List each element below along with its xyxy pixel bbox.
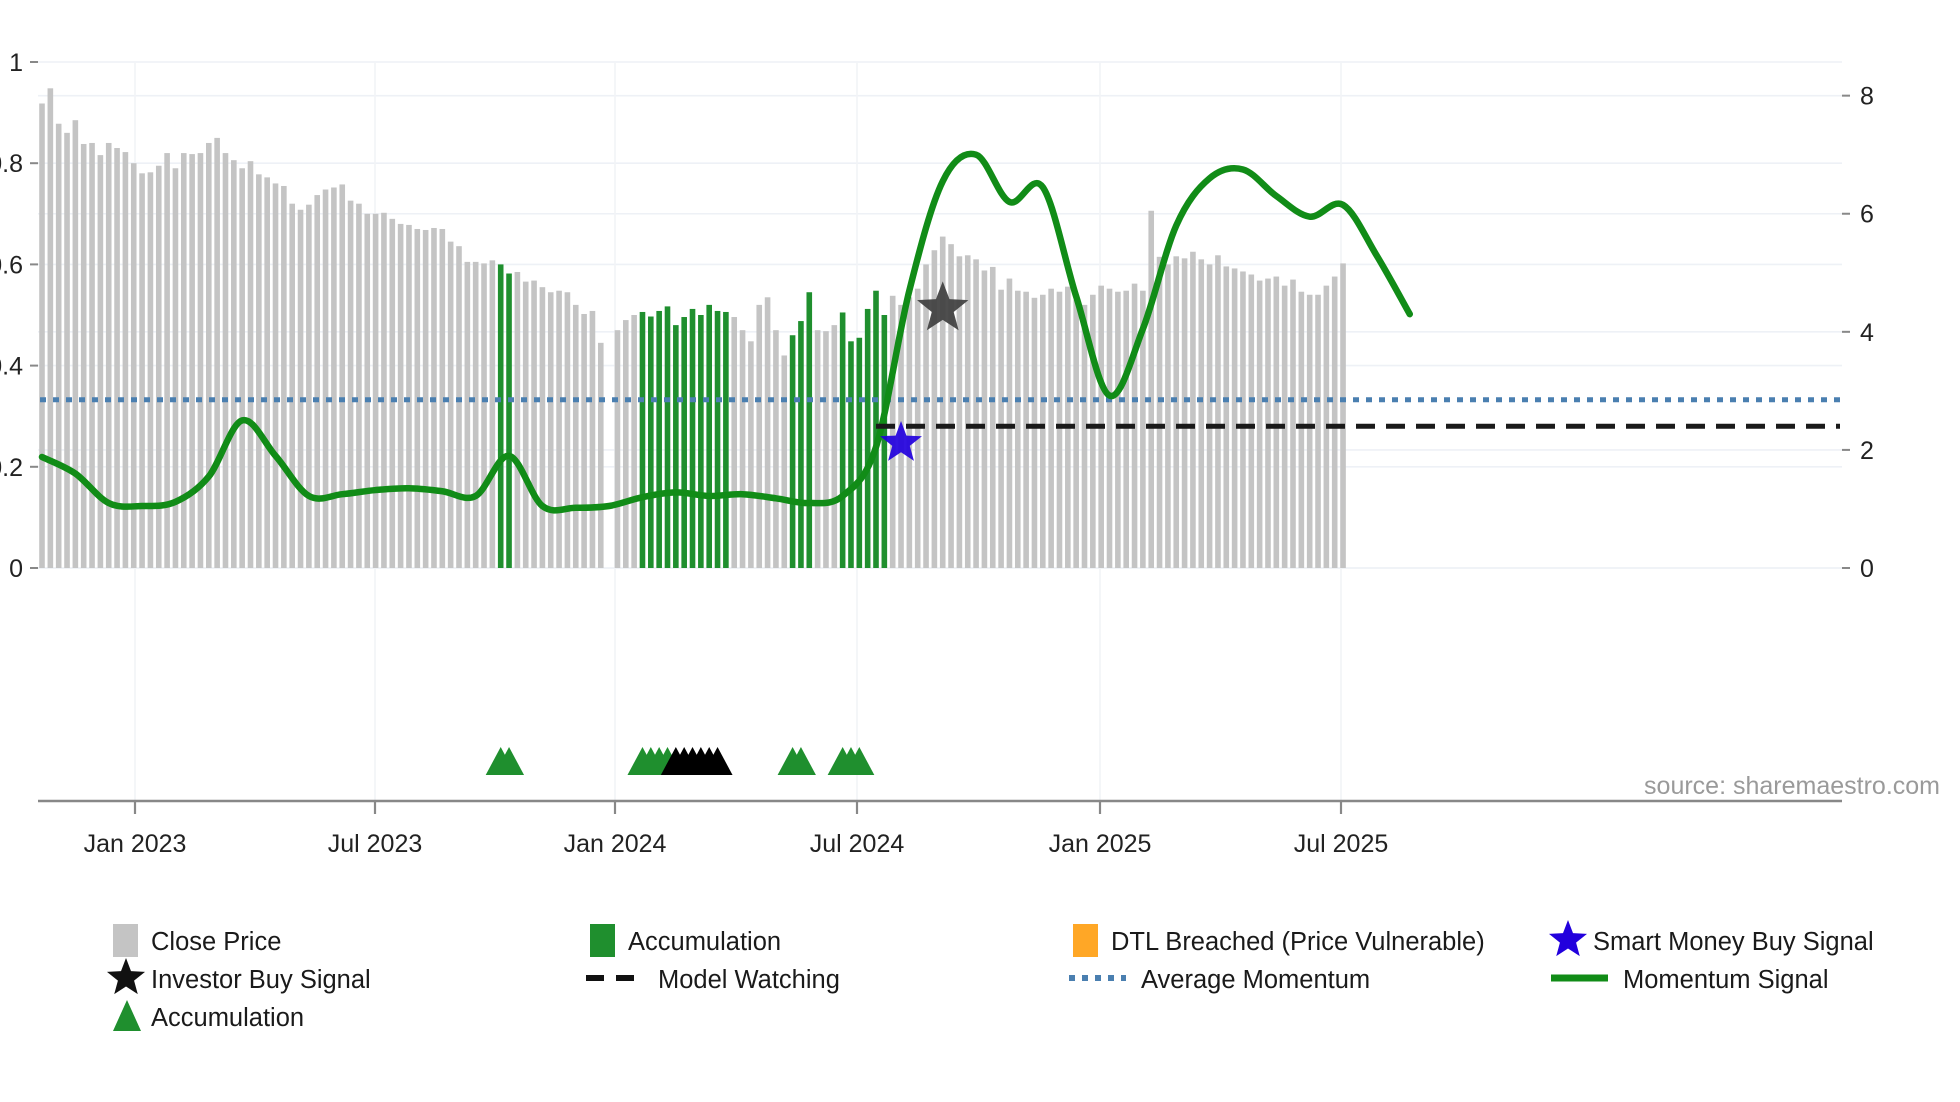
accumulation-bar [656,311,662,568]
accumulation-bar [648,317,654,568]
close-price-bar [1040,295,1046,568]
close-price-bar [965,255,971,568]
chart-root: 00.20.40.60.81 02468 Jan 2023Jul 2023Jan… [0,0,1960,1102]
legend-label: Accumulation [151,1004,304,1032]
bottom-tick-label: Jan 2023 [84,830,187,858]
close-price-bar [1240,271,1246,568]
accumulation-bar [498,264,504,568]
close-price-bar [540,287,546,568]
close-price-bar [1257,281,1263,568]
close-price-bar [765,297,771,568]
close-price-bar [740,330,746,568]
close-price-bar [490,260,496,568]
close-price-bar [398,224,404,568]
close-price-bar [206,143,212,568]
close-price-bar [465,262,471,568]
close-price-bar [1123,291,1129,568]
bottom-tick-label: Jul 2023 [328,830,423,858]
dtl-breached-icon [1073,924,1098,957]
close-price-bar [990,267,996,568]
legend-label: Accumulation [628,928,781,956]
accumulation-bar [690,309,696,568]
close-price-bar [748,341,754,568]
accumulation-bar-icon [590,924,615,957]
close-price-bar [64,133,70,568]
close-price-bar [348,201,354,568]
close-price-bar [406,225,412,568]
bottom-tick-label: Jan 2024 [564,830,667,858]
close-price-bar [1307,295,1313,568]
right-tick-label: 0 [1860,555,1874,583]
close-price-bar [548,292,554,568]
close-price-bar [56,124,62,568]
left-tick-label: 1 [9,49,23,77]
close-price-bar [998,290,1004,568]
close-price-bar [289,204,295,568]
close-price-bar [381,213,387,568]
accumulation-bar [723,312,729,568]
close-price-bar [1299,292,1305,568]
close-price-bar [389,219,395,568]
right-tick-label: 4 [1860,319,1874,347]
close-price-bar [1232,268,1238,568]
right-tick-label: 2 [1860,437,1874,465]
legend-label: DTL Breached (Price Vulnerable) [1111,928,1485,956]
legend-item-dtl-breached[interactable]: DTL Breached (Price Vulnerable) [1073,924,1485,957]
close-price-bar [223,153,229,568]
close-price-bar [832,325,838,568]
accumulation-bar [681,317,687,568]
left-tick-label: 0.4 [0,353,23,381]
close-price-bar [731,317,737,568]
close-price-bar [1165,264,1171,568]
accumulation-bar [840,312,846,568]
close-price-bar [89,143,95,568]
close-price-bar [615,330,621,568]
close-price-bar [481,263,487,568]
close-price-bar [1173,256,1179,568]
close-price-bar [531,281,537,568]
close-price-bar [1107,289,1113,568]
close-price-bar [456,246,462,568]
right-tick-label: 8 [1860,83,1874,111]
close-price-bar [1265,279,1271,568]
close-price-bar [1023,292,1029,568]
accumulation-bar [882,315,888,568]
close-price-bar [1290,280,1296,568]
close-price-bar [1249,275,1255,568]
close-price-bar [314,195,320,568]
close-price-bar [523,282,529,568]
source-attribution: source: sharemaestro.com [1644,772,1940,800]
close-price-bar [281,186,287,568]
close-price-bar [473,262,479,568]
close-price-bar [73,120,79,568]
close-price-bar [815,330,821,568]
close-price-bar [1090,295,1096,568]
close-price-bar [932,250,938,568]
close-price-bar [1007,279,1013,568]
close-price-bar [823,331,829,568]
close-price-bar [1157,257,1163,568]
close-price-bar [781,355,787,568]
accumulation-bar [715,311,721,568]
legend-label: Close Price [151,928,281,956]
close-price-bar [248,161,254,568]
bottom-tick-label: Jul 2024 [810,830,905,858]
close-price-bar [189,154,195,568]
close-price-bar [631,315,637,568]
legend-label: Investor Buy Signal [151,966,371,994]
close-price-bar [373,214,379,568]
close-price-bar [948,244,954,568]
close-price-bar [1332,277,1338,568]
close-price-bar [298,210,304,568]
accumulation-bar [848,341,854,568]
legend-label: Model Watching [658,966,840,994]
close-price-bar [1198,259,1204,568]
accumulation-bar [806,292,812,568]
accumulation-bar [665,306,671,568]
close-price-bar [923,264,929,568]
legend-label: Average Momentum [1141,966,1370,994]
close-price-bar [565,292,571,568]
close-price-bar [1032,298,1038,568]
close-price-bar [181,153,187,568]
close-price-bar [256,174,262,568]
close-price-bar [231,160,237,568]
close-price-bar [48,88,54,568]
close-price-bar [1190,252,1196,568]
bottom-tick-label: Jul 2025 [1294,830,1389,858]
accumulation-bar [673,325,679,568]
close-price-bar [323,190,329,568]
accumulation-bar [798,321,804,568]
close-price-bar [339,184,345,568]
accumulation-bar [640,312,646,568]
close-price-bar [81,144,87,568]
legend-label: Momentum Signal [1623,966,1829,994]
close-price-bar [1148,211,1154,568]
close-price-bar [973,259,979,568]
close-price-bar [890,296,896,568]
accumulation-bar [506,274,512,568]
close-price-bar [1207,264,1213,568]
left-tick-label: 0.6 [0,251,23,279]
close-price-bar [756,305,762,568]
left-tick-label: 0.8 [0,150,23,178]
close-price-bar [173,168,179,568]
accumulation-bar [857,338,863,568]
close-price-bar [264,177,270,568]
close-price-bar [581,314,587,568]
close-price-bar [356,204,362,568]
close-price-bar [214,138,220,568]
close-price-bar [515,272,521,568]
close-price-bar [556,291,562,568]
close-price-bar [907,297,913,568]
close-price-bar [239,168,245,568]
left-tick-label: 0 [9,555,23,583]
close-price-bar [1315,295,1321,568]
accumulation-bar [698,315,704,568]
close-price-bar [623,320,629,568]
left-tick-label: 0.2 [0,454,23,482]
close-price-bar [1340,263,1346,568]
close-price-bar [198,153,204,568]
close-price-bar [1073,300,1079,568]
close-price-bar [306,205,312,568]
close-price-bar [1182,258,1188,568]
close-price-bar [590,311,596,568]
close-price-bar [39,103,45,568]
close-price-bar [1274,277,1280,568]
close-price-bar [573,305,579,568]
accumulation-bar [706,305,712,568]
close-price-bar [1223,266,1229,568]
close-price-bar [598,343,604,568]
close-price-bar [273,183,279,568]
bottom-tick-label: Jan 2025 [1049,830,1152,858]
close-price-bar [98,155,104,568]
close-price-bar [423,230,429,568]
close-price-bar [1215,255,1221,568]
close-price-bar [1057,292,1063,568]
close-price-bar [982,270,988,568]
accumulation-bar [865,309,871,568]
close-price-bar [448,242,454,568]
right-tick-label: 6 [1860,201,1874,229]
close-price-bar [331,187,337,568]
close-price-bar [364,214,370,568]
close-price-bar [1115,292,1121,568]
legend-label: Smart Money Buy Signal [1593,928,1874,956]
financial-chart-svg: 00.20.40.60.81 02468 Jan 2023Jul 2023Jan… [0,0,1960,1102]
close-price-bar [1015,291,1021,568]
close-price-bar [1048,289,1054,568]
accumulation-bar [790,335,796,568]
close-price-bar [773,330,779,568]
close-price-icon [113,924,138,957]
